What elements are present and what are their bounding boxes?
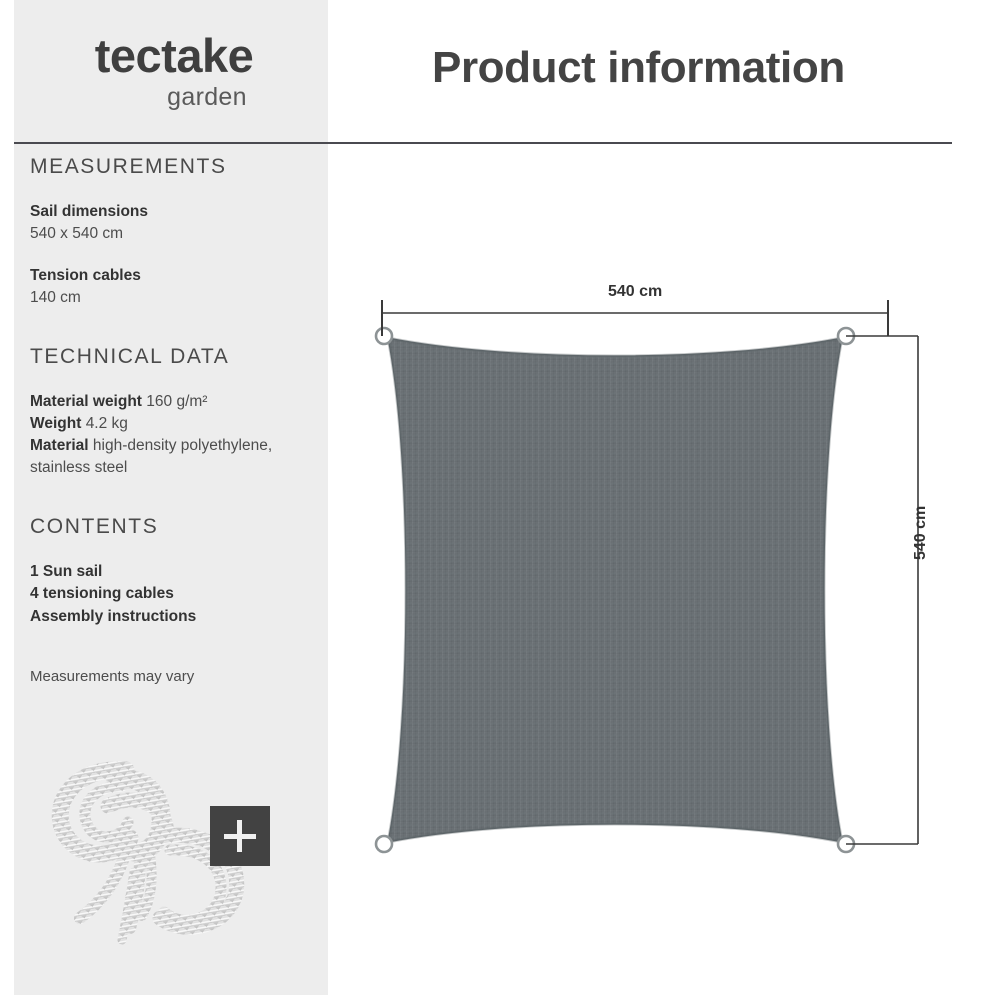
brand-name: tectake (20, 32, 328, 79)
spec-material-weight: Material weight 160 g/m² (30, 391, 328, 413)
product-information-page: tectake garden MEASUREMENTS Sail dimensi… (0, 0, 1000, 1000)
list-item: Assembly instructions (30, 606, 328, 628)
plus-badge-icon (210, 806, 270, 866)
dimension-label-height: 540 cm (912, 506, 930, 560)
section-heading-contents: CONTENTS (30, 515, 328, 539)
spec-label: Material weight (30, 393, 142, 410)
section-contents: CONTENTS 1 Sun sail 4 tensioning cables … (16, 515, 328, 628)
sun-sail-diagram (340, 270, 990, 890)
section-technical-data: TECHNICAL DATA Material weight 160 g/m² … (16, 345, 328, 479)
dimension-label-width: 540 cm (608, 283, 662, 301)
section-measurements: MEASUREMENTS Sail dimensions 540 x 540 c… (16, 155, 328, 309)
spec-value: 140 cm (30, 287, 328, 309)
brand-logo: tectake garden (14, 32, 328, 110)
spec-material: Material high-density polyethylene, stai… (30, 435, 328, 479)
spec-value: 540 x 540 cm (30, 223, 328, 245)
page-title: Product information (432, 43, 845, 93)
brand-tagline: garden (86, 85, 328, 110)
sail-shape (388, 338, 842, 842)
spec-weight: Weight 4.2 kg (30, 413, 328, 435)
list-item: 1 Sun sail (30, 561, 328, 583)
measurements-disclaimer: Measurements may vary (30, 668, 328, 685)
spec-value: 4.2 kg (86, 415, 128, 432)
spec-label: Sail dimensions (30, 201, 328, 223)
section-heading-technical-data: TECHNICAL DATA (30, 345, 328, 369)
spec-tension-cables: Tension cables 140 cm (30, 265, 328, 309)
corner-ring-bottom-left (376, 836, 392, 852)
spec-label: Tension cables (30, 265, 328, 287)
header-divider (14, 142, 952, 144)
section-heading-measurements: MEASUREMENTS (30, 155, 328, 179)
spec-label: Weight (30, 415, 81, 432)
spec-label: Material (30, 437, 89, 454)
sidebar: tectake garden MEASUREMENTS Sail dimensi… (14, 0, 328, 995)
corner-ring-top-left (376, 328, 392, 344)
spec-sail-dimensions: Sail dimensions 540 x 540 cm (30, 201, 328, 245)
list-item: 4 tensioning cables (30, 583, 328, 605)
sidebar-content: MEASUREMENTS Sail dimensions 540 x 540 c… (16, 155, 328, 685)
spec-value: 160 g/m² (146, 393, 207, 410)
